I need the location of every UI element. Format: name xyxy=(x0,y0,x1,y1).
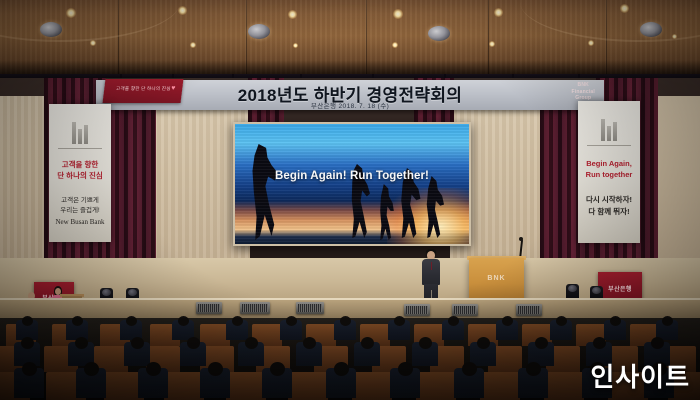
banner-slogan-tab: 고객을 향한 단 하나의 진심 ♥ xyxy=(103,79,184,103)
left-standing-banner: 고객을 향한 단 하나의 진심 고객은 기쁘게 우리는 즐겁게! New Bus… xyxy=(49,104,111,242)
audience-head xyxy=(556,316,567,326)
audience-head xyxy=(21,337,34,349)
ceiling-downlight xyxy=(392,42,398,48)
audience-head xyxy=(208,362,223,376)
left-banner-dark-line2: 우리는 즐겁게! xyxy=(49,206,111,216)
ceiling-downlight xyxy=(90,40,96,46)
bank-tower-icon xyxy=(578,115,640,141)
audience-head xyxy=(462,362,477,376)
bnk-logo-line2: Financial xyxy=(572,89,595,96)
audience-head xyxy=(535,337,548,349)
right-banner-dark-line1: 다시 시작하자! xyxy=(578,195,640,205)
audience-head xyxy=(334,362,349,376)
left-banner-red-line2: 단 하나의 진심 xyxy=(49,171,111,181)
audience-head xyxy=(303,337,316,349)
audience-head xyxy=(72,316,83,326)
audience-head xyxy=(245,337,258,349)
seat xyxy=(164,372,204,400)
audience-head xyxy=(651,337,664,349)
ceiling-downlight xyxy=(672,34,677,39)
audience-head xyxy=(232,316,243,326)
audience-head xyxy=(361,337,374,349)
left-banner-red-line1: 고객을 향한 xyxy=(49,160,111,170)
ceiling-speaker-icon xyxy=(428,26,450,41)
seat xyxy=(480,372,520,400)
monitor-speaker xyxy=(404,304,430,316)
audience-head xyxy=(286,316,297,326)
podium-bnk-logo: BNK xyxy=(469,275,524,282)
monitor-speaker xyxy=(516,304,542,316)
heart-icon: ♥ xyxy=(171,85,176,92)
audience-head xyxy=(526,362,541,376)
audience-head xyxy=(22,316,33,326)
seat xyxy=(288,372,328,400)
audience-head xyxy=(131,337,144,349)
bnk-financial-group-logo: BNK Financial Group xyxy=(572,82,595,102)
monitor-speaker xyxy=(240,302,270,314)
audience-head xyxy=(610,316,621,326)
speaker-tie xyxy=(431,262,433,270)
right-standing-banner: Begin Again, Run together 다시 시작하자! 다 함께 … xyxy=(578,101,640,243)
ceiling-downlight xyxy=(178,6,187,15)
ceiling-downlight xyxy=(489,41,495,47)
audience-head xyxy=(84,362,99,376)
ceiling-downlight xyxy=(393,9,403,19)
left-banner-dark-line3: New Busan Bank xyxy=(49,217,111,227)
audience-head xyxy=(187,337,200,349)
seat xyxy=(544,372,584,400)
ceiling-downlight xyxy=(66,8,76,18)
audience-head xyxy=(394,316,405,326)
projection-screen: Begin Again! Run Together! xyxy=(233,122,471,246)
right-banner-red-line1: Begin Again, xyxy=(578,159,640,169)
microphone-icon xyxy=(519,237,523,241)
divider xyxy=(58,148,103,149)
right-banner-red-line2: Run together xyxy=(578,170,640,180)
audience-head xyxy=(178,316,189,326)
screen-scanlines xyxy=(235,124,469,244)
audience-head xyxy=(398,362,413,376)
audience-head xyxy=(448,316,459,326)
monitor-speaker xyxy=(296,302,324,314)
audience-head xyxy=(502,316,513,326)
audience-head xyxy=(662,316,673,326)
audience-head xyxy=(126,316,137,326)
monitor-speaker xyxy=(452,304,478,316)
left-banner-dark-line1: 고객은 기쁘게 xyxy=(49,196,111,206)
audience-head xyxy=(22,362,37,376)
audience-head xyxy=(75,337,88,349)
audience-head xyxy=(477,337,490,349)
divider xyxy=(587,145,632,146)
ceiling-speaker-icon xyxy=(640,22,662,37)
ceiling-downlight xyxy=(588,40,594,46)
audience-head xyxy=(593,337,606,349)
audience-head xyxy=(270,362,285,376)
ceiling-downlight xyxy=(190,42,196,48)
seat xyxy=(352,372,392,400)
ceiling-downlight xyxy=(293,43,298,48)
ceiling-downlight xyxy=(494,8,503,17)
ceiling-speaker-icon xyxy=(248,24,270,39)
auditorium-photo: 2018년도 하반기 경영전략회의 부산은행 2018. 7. 18 (수) B… xyxy=(0,0,700,400)
screen-content: Begin Again! Run Together! xyxy=(235,124,469,244)
right-banner-dark-line2: 다 함께 뛰자! xyxy=(578,207,640,217)
ceiling-speaker-icon xyxy=(40,22,62,37)
audience-head xyxy=(340,316,351,326)
bnk-logo-line1: BNK xyxy=(572,82,595,89)
bank-tower-icon xyxy=(49,118,111,144)
monitor-speaker xyxy=(196,302,222,314)
seat xyxy=(226,372,266,400)
side-banner-right-text: 부산은행 xyxy=(598,284,642,293)
audience-head xyxy=(419,337,432,349)
ceiling-downlight xyxy=(620,4,629,13)
ceiling-downlight xyxy=(288,10,297,19)
seat xyxy=(416,372,456,400)
audience-head xyxy=(146,362,161,376)
watermark: 인사이트 xyxy=(590,357,690,394)
ceiling xyxy=(0,0,700,78)
